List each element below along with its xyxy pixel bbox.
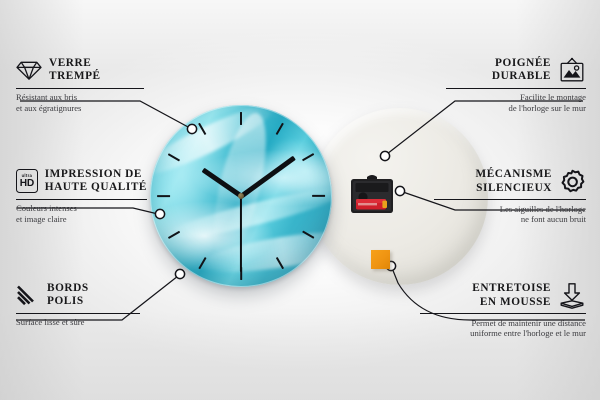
foam-spacer-icon	[558, 282, 586, 309]
foam-spacer-pad	[371, 250, 390, 269]
anchor-dot-impression	[155, 209, 164, 218]
feature-sub-line1: Permet de maintenir une distance	[420, 318, 586, 329]
feature-sub-line1: Les aiguilles de l'horloge	[434, 204, 586, 215]
feature-title-line1: ENTRETOISE	[472, 282, 551, 295]
divider	[446, 88, 586, 89]
feature-title-line2: EN MOUSSE	[472, 296, 551, 309]
feature-title-line1: VERRE	[49, 57, 101, 70]
feature-impression-haute-qualite: ultra HD IMPRESSION DE HAUTE QUALITÉ Cou…	[16, 168, 147, 225]
anchor-dot-bords-polis	[175, 269, 184, 278]
feature-sub-line1: Couleurs intenses	[16, 203, 147, 214]
feature-sub-line1: Facilite le montage	[446, 92, 586, 103]
quartz-movement-box	[349, 172, 395, 218]
divider	[434, 199, 586, 200]
anchor-dot-poignee	[380, 151, 389, 160]
feature-title-line2: SILENCIEUX	[476, 182, 553, 195]
feature-verre-trempe: VERRE TREMPÉ Résistant aux bris et aux é…	[16, 57, 144, 114]
feature-sub-line2: de l'horloge sur le mur	[446, 103, 586, 114]
feature-sub-line2: ne font aucun bruit	[434, 214, 586, 225]
feature-title-line2: HAUTE QUALITÉ	[45, 181, 147, 194]
feature-sub-line2: et aux égratignures	[16, 103, 144, 114]
divider	[16, 313, 140, 314]
feature-title-line1: POIGNÉE	[492, 57, 551, 70]
divider	[420, 313, 586, 314]
feature-sub-line2: uniforme entre l'horloge et le mur	[420, 328, 586, 339]
picture-hanger-icon	[558, 57, 586, 83]
divider	[16, 199, 147, 200]
infographic-canvas: VERRE TREMPÉ Résistant aux bris et aux é…	[0, 0, 600, 400]
feature-title-line1: BORDS	[47, 282, 89, 295]
feature-title-line1: IMPRESSION DE	[45, 168, 147, 181]
feature-title-line2: TREMPÉ	[49, 70, 101, 83]
polished-edges-icon	[16, 284, 40, 306]
feature-entretoise-en-mousse: ENTRETOISE EN MOUSSE Permet de maintenir…	[420, 282, 586, 339]
feature-title-line2: DURABLE	[492, 70, 551, 83]
feature-title-line1: MÉCANISME	[476, 168, 553, 181]
ultra-hd-icon: ultra HD	[16, 169, 38, 193]
feature-sub-line1: Surface lisse et sûre	[16, 317, 140, 328]
gear-icon	[559, 168, 586, 195]
divider	[16, 88, 144, 89]
anchor-dot-mecanisme	[395, 186, 404, 195]
feature-poignee-durable: POIGNÉE DURABLE Facilite le montage de l…	[446, 57, 586, 114]
anchor-dot-verre-trempe	[187, 124, 196, 133]
feature-bords-polis: BORDS POLIS Surface lisse et sûre	[16, 282, 140, 328]
feature-title-line2: POLIS	[47, 295, 89, 308]
feature-sub-line1: Résistant aux bris	[16, 92, 144, 103]
feature-sub-line2: et image claire	[16, 214, 147, 225]
ultra-hd-icon-main-text: HD	[20, 179, 34, 189]
diamond-icon	[16, 59, 42, 81]
feature-mecanisme-silencieux: MÉCANISME SILENCIEUX Les aiguilles de l'…	[434, 168, 586, 225]
